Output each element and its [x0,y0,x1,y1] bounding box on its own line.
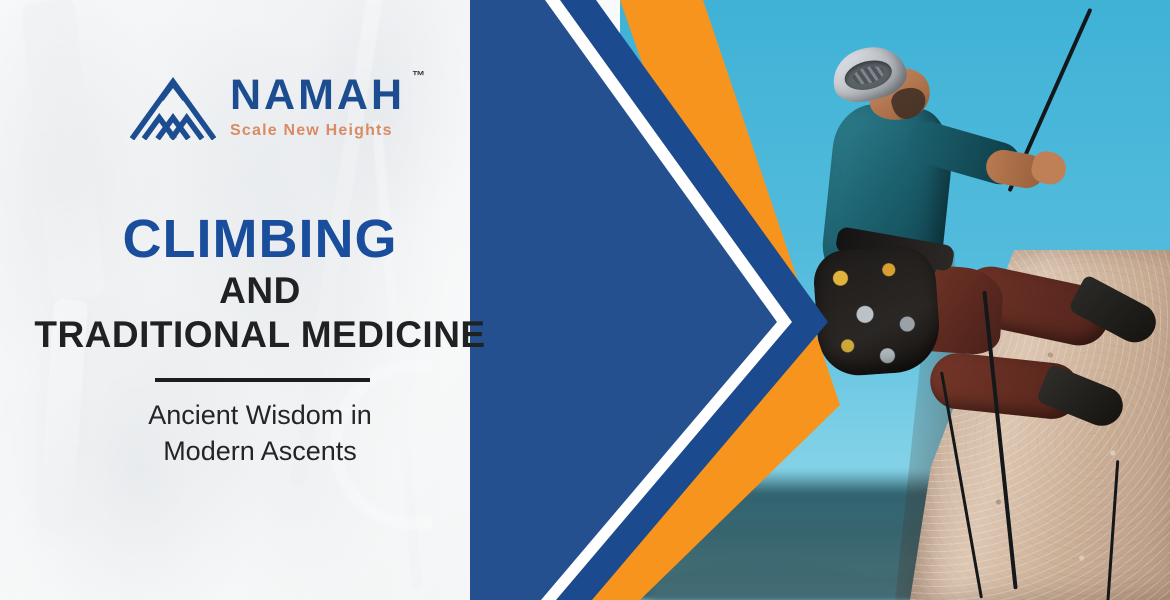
headline-divider [155,378,370,382]
brand-logo[interactable]: NAMAH ™ Scale New Heights [130,68,405,140]
subheadline-block: Ancient Wisdom in Modern Ascents [0,398,520,469]
climber-figure [810,40,1150,560]
climber-shoe-lower [1036,364,1129,433]
headline-line-2: AND [0,269,520,313]
brand-logo-text: NAMAH ™ Scale New Heights [230,70,405,140]
headline-line-3: TRADITIONAL MEDICINE [0,313,520,357]
subheadline-line-1: Ancient Wisdom in [0,398,520,434]
mountain-chevron-icon [130,68,216,140]
headline-block: CLIMBING AND TRADITIONAL MEDICINE [0,212,520,356]
brand-name: NAMAH [230,74,405,117]
promo-banner: NAMAH ™ Scale New Heights CLIMBING AND T… [0,0,1170,600]
banner-content: NAMAH ™ Scale New Heights CLIMBING AND T… [0,0,560,600]
brand-tagline: Scale New Heights [230,122,405,140]
climbing-gear-rack [812,244,942,378]
trademark-symbol: ™ [412,68,425,83]
headline-line-1: CLIMBING [0,212,520,267]
subheadline-line-2: Modern Ascents [0,434,520,470]
